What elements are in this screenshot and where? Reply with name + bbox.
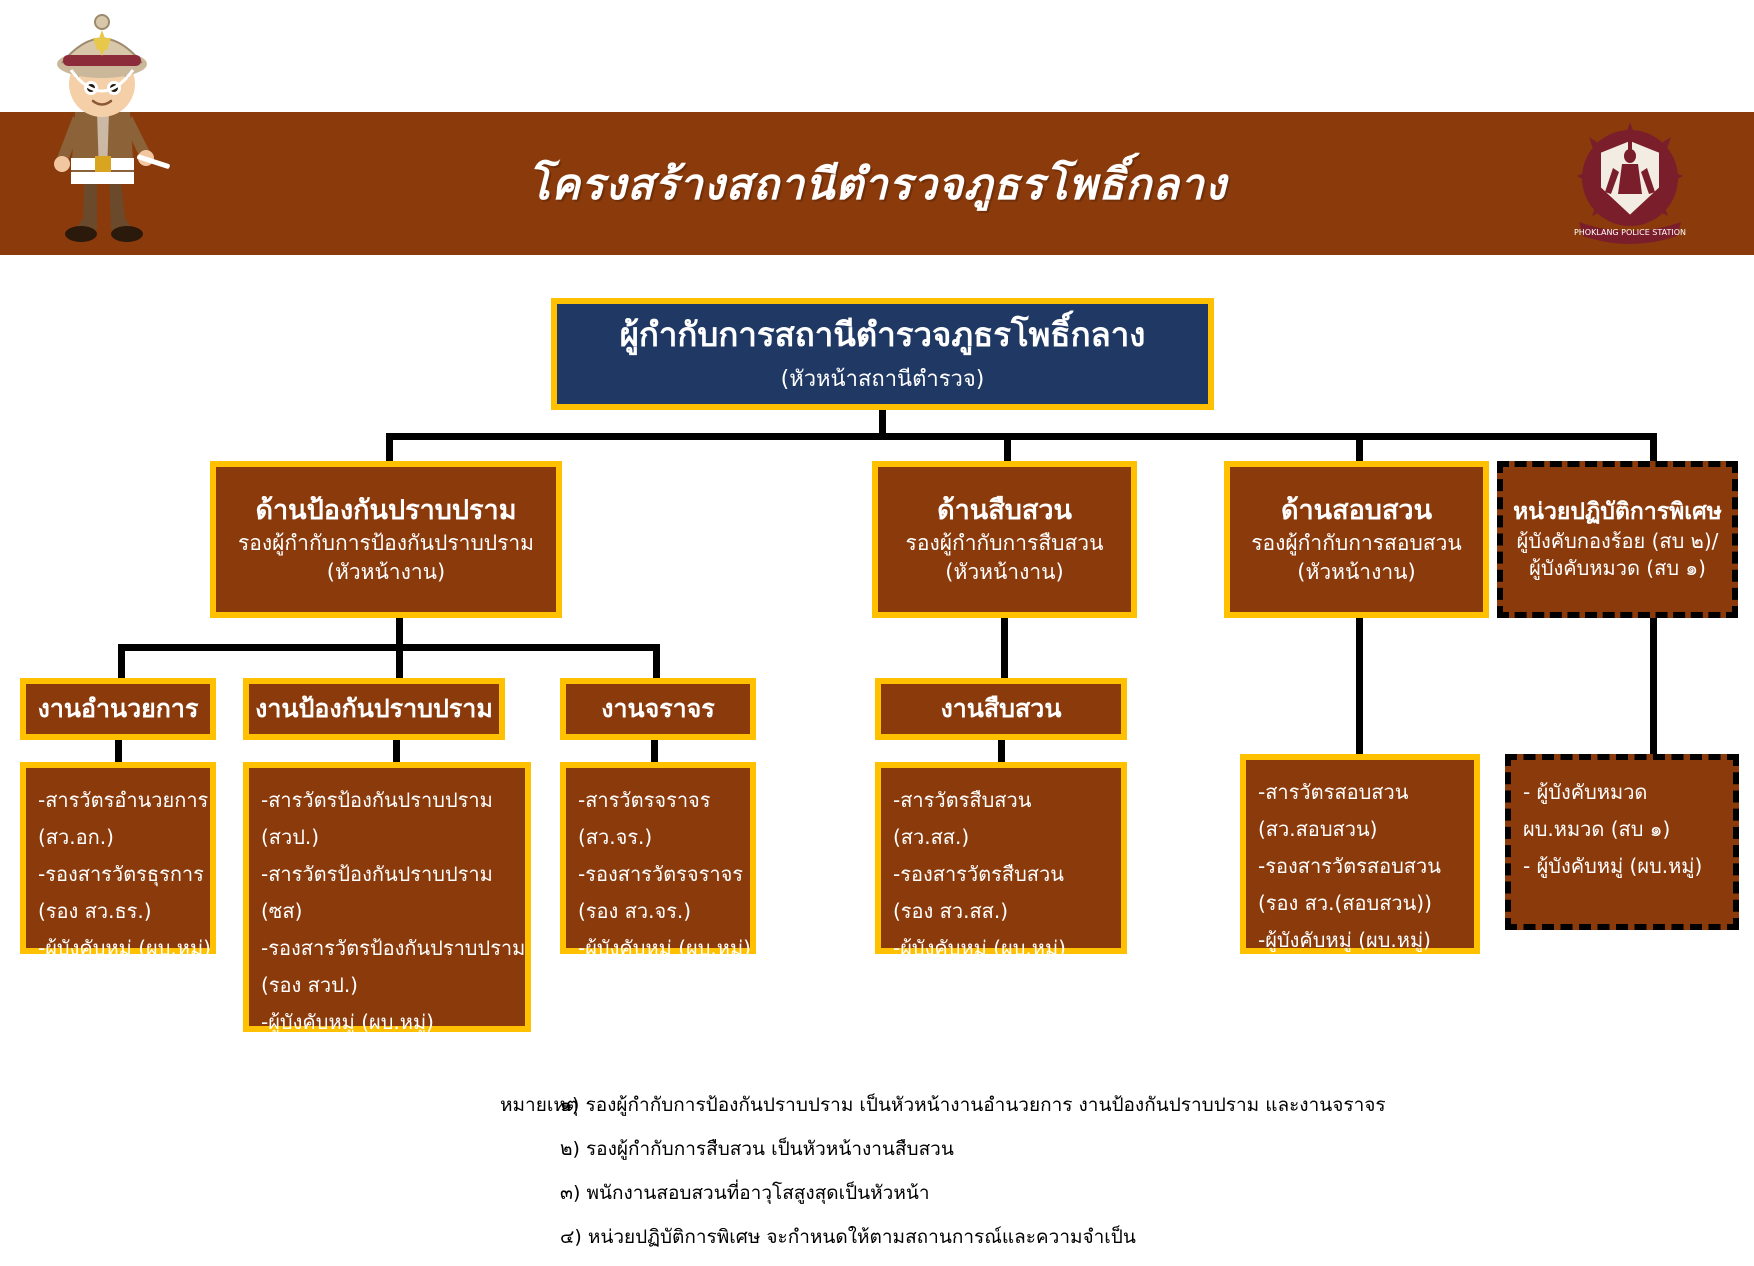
unit-box-admin[interactable]: งานอำนวยการ xyxy=(20,678,216,740)
detail-line: -สารวัตรป้องกันปราบปราม xyxy=(261,782,493,819)
detail-line: -ผู้บังคับหมู่ (ผบ.หมู่) xyxy=(38,930,211,967)
connector-drop-traffic xyxy=(653,644,660,678)
police-emblem-icon: PHOKLANG POLICE STATION xyxy=(1565,118,1695,248)
root-title: ผู้กำกับการสถานีตำรวจภูธรโพธิ์กลาง xyxy=(620,313,1146,358)
note-item: ๒) รองผู้กำกับการสืบสวน เป็นหัวหน้างานสื… xyxy=(560,1134,1710,1164)
detail-line: ผบ.หมวด (สบ ๑) xyxy=(1523,811,1670,848)
detail-line: (สว.สส.) xyxy=(893,819,969,856)
connector-investigation-stem xyxy=(1001,618,1008,678)
detail-line: -รองสารวัตรจราจร xyxy=(578,856,743,893)
detail-line: - ผู้บังคับหมวด xyxy=(1523,774,1647,811)
unit-box-investigation-work[interactable]: งานสืบสวน xyxy=(875,678,1127,740)
detail-line: (รอง สว.(สอบสวน)) xyxy=(1258,885,1432,922)
detail-line: (สวป.) xyxy=(261,819,319,856)
root-box-station-superintendent[interactable]: ผู้กำกับการสถานีตำรวจภูธรโพธิ์กลาง (หัวห… xyxy=(551,298,1214,410)
unit-box-traffic[interactable]: งานจราจร xyxy=(560,678,756,740)
header-banner xyxy=(0,112,1754,255)
division-prevention-note: (หัวหน้างาน) xyxy=(327,558,445,586)
connector-drop-inquiry xyxy=(1356,433,1363,461)
division-inquiry-note: (หัวหน้างาน) xyxy=(1297,558,1415,586)
root-subtitle: (หัวหน้าสถานีตำรวจ) xyxy=(781,365,985,395)
division-investigation-title: ด้านสืบสวน xyxy=(937,493,1072,529)
detail-line: -ผู้บังคับหมู่ (ผบ.หมู่) xyxy=(261,1004,434,1041)
detail-line: -ผู้บังคับหมู่ (ผบ.หมู่) xyxy=(893,930,1066,967)
note-item: ๔) หน่วยปฏิบัติการพิเศษ จะกำหนดให้ตามสถา… xyxy=(560,1222,1710,1252)
connector-traffic-to-detail xyxy=(651,740,658,762)
connector-prevention-bus xyxy=(120,644,660,651)
connector-drop-prevention-work xyxy=(396,644,403,678)
detail-line: -สารวัตรสอบสวน xyxy=(1258,774,1408,811)
detail-line: -สารวัตรป้องกันปราบปราม xyxy=(261,856,493,893)
division-prevention-role: รองผู้กำกับการป้องกันปราบปราม xyxy=(238,529,534,557)
detail-line: (สว.จร.) xyxy=(578,819,652,856)
division-inquiry-role: รองผู้กำกับการสอบสวน xyxy=(1251,529,1462,557)
detail-line: (สว.อก.) xyxy=(38,819,114,856)
connector-level2-bus xyxy=(389,433,1653,440)
detail-line: -รองสารวัตรสอบสวน xyxy=(1258,848,1441,885)
division-box-special-unit[interactable]: หน่วยปฏิบัติการพิเศษ ผู้บังคับกองร้อย (ส… xyxy=(1497,461,1738,618)
connector-root-stem xyxy=(879,410,886,433)
unit-prevention-work-label: งานป้องกันปราบปราม xyxy=(255,692,493,726)
detail-line: (รอง สวป.) xyxy=(261,967,358,1004)
division-special-title: หน่วยปฏิบัติการพิเศษ xyxy=(1513,497,1722,528)
notes-section: หมายเหตุ ๑) รองผู้กำกับการป้องกันปราบปรา… xyxy=(560,1090,1710,1266)
division-box-prevention[interactable]: ด้านป้องกันปราบปราม รองผู้กำกับการป้องกั… xyxy=(210,461,562,618)
detail-line: (รอง สว.จร.) xyxy=(578,893,691,930)
connector-special-stem xyxy=(1650,618,1657,754)
unit-traffic-label: งานจราจร xyxy=(601,692,715,726)
division-special-role-2: ผู้บังคับหมวด (สบ ๑) xyxy=(1529,555,1706,582)
connector-prevention-work-to-detail xyxy=(393,740,400,762)
detail-line: -ผู้บังคับหมู่ (ผบ.หมู่) xyxy=(1258,922,1431,959)
connector-investigation-to-detail xyxy=(998,740,1005,762)
division-special-role-1: ผู้บังคับกองร้อย (สบ ๒)/ xyxy=(1517,528,1719,555)
unit-admin-label: งานอำนวยการ xyxy=(38,692,199,726)
division-box-investigation[interactable]: ด้านสืบสวน รองผู้กำกับการสืบสวน (หัวหน้า… xyxy=(872,461,1137,618)
detail-line: -รองสารวัตรสืบสวน xyxy=(893,856,1064,893)
connector-drop-investigation xyxy=(1004,433,1011,461)
detail-line: (ซส) xyxy=(261,893,302,930)
police-mascot-icon xyxy=(35,8,170,248)
detail-box-prevention-work[interactable]: -สารวัตรป้องกันปราบปราม (สวป.) -สารวัตรป… xyxy=(243,762,531,1032)
division-prevention-title: ด้านป้องกันปราบปราม xyxy=(255,493,516,529)
detail-box-special-unit[interactable]: - ผู้บังคับหมวด ผบ.หมวด (สบ ๑) - ผู้บังค… xyxy=(1505,754,1739,930)
connector-inquiry-stem xyxy=(1356,618,1363,754)
notes-label: หมายเหตุ xyxy=(500,1090,578,1120)
detail-line: - ผู้บังคับหมู่ (ผบ.หมู่) xyxy=(1523,848,1702,885)
connector-drop-admin xyxy=(118,644,125,678)
detail-line: (รอง สว.ธร.) xyxy=(38,893,152,930)
detail-box-traffic[interactable]: -สารวัตรจราจร (สว.จร.) -รองสารวัตรจราจร … xyxy=(560,762,756,954)
detail-line: -สารวัตรอำนวยการ xyxy=(38,782,208,819)
note-item: ๑) รองผู้กำกับการป้องกันปราบปราม เป็นหัว… xyxy=(560,1090,1710,1120)
division-box-inquiry[interactable]: ด้านสอบสวน รองผู้กำกับการสอบสวน (หัวหน้า… xyxy=(1224,461,1489,618)
org-chart-canvas: โครงสร้างสถานีตำรวจภูธรโพธิ์กลาง xyxy=(0,0,1754,1241)
detail-box-investigation-work[interactable]: -สารวัตรสืบสวน (สว.สส.) -รองสารวัตรสืบสว… xyxy=(875,762,1127,954)
detail-line: (รอง สว.สส.) xyxy=(893,893,1008,930)
connector-drop-prevention xyxy=(386,433,393,461)
detail-line: -สารวัตรสืบสวน xyxy=(893,782,1031,819)
division-investigation-note: (หัวหน้างาน) xyxy=(945,558,1063,586)
detail-line: -ผู้บังคับหมู่ (ผบ.หมู่) xyxy=(578,930,751,967)
detail-line: (สว.สอบสวน) xyxy=(1258,811,1377,848)
emblem-caption: PHOKLANG POLICE STATION xyxy=(1574,228,1686,237)
division-investigation-role: รองผู้กำกับการสืบสวน xyxy=(906,529,1104,557)
detail-line: -รองสารวัตรป้องกันปราบปราม xyxy=(261,930,525,967)
connector-admin-to-detail xyxy=(115,740,122,762)
unit-investigation-work-label: งานสืบสวน xyxy=(941,692,1062,726)
connector-drop-special xyxy=(1650,433,1657,461)
note-item: ๓) พนักงานสอบสวนที่อาวุโสสูงสุดเป็นหัวหน… xyxy=(560,1178,1710,1208)
division-inquiry-title: ด้านสอบสวน xyxy=(1281,493,1432,529)
detail-box-admin[interactable]: -สารวัตรอำนวยการ (สว.อก.) -รองสารวัตรธุร… xyxy=(20,762,216,954)
detail-line: -รองสารวัตรธุรการ xyxy=(38,856,204,893)
detail-box-inquiry[interactable]: -สารวัตรสอบสวน (สว.สอบสวน) -รองสารวัตรสอ… xyxy=(1240,754,1480,954)
detail-line: -สารวัตรจราจร xyxy=(578,782,711,819)
unit-box-prevention-work[interactable]: งานป้องกันปราบปราม xyxy=(243,678,505,740)
connector-prevention-stem xyxy=(396,618,403,644)
